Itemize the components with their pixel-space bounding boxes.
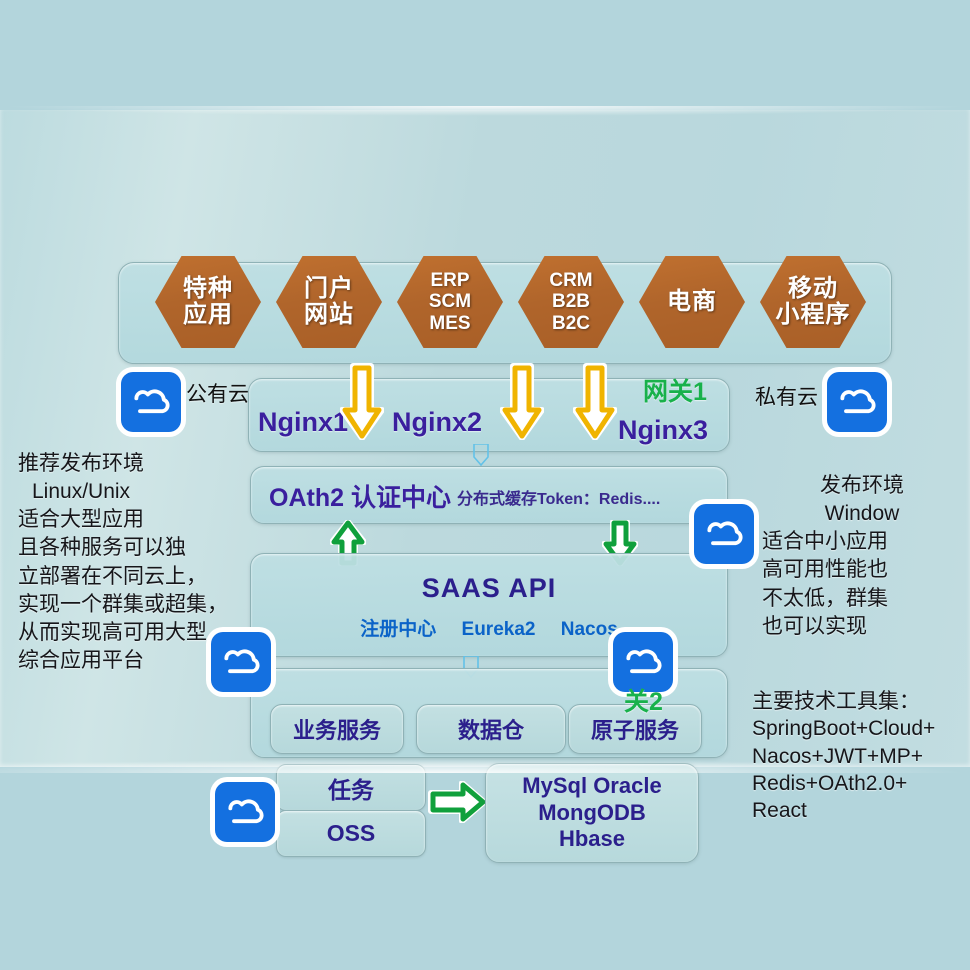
- left-note: 推荐发布环境 Linux/Unix 适合大型应用 且各种服务可以独 立部署在不同…: [18, 450, 233, 675]
- right-note-line-4: 高可用性能也: [762, 556, 962, 584]
- oss-box[interactable]: OSS: [276, 810, 426, 857]
- oauth-subtitle: 分布式缓存Token：Redis....: [457, 485, 660, 509]
- registry-label: 注册中心: [360, 619, 436, 640]
- right-note: 发布环境 Window 适合中小应用 高可用性能也 不太低，群集 也可以实现: [762, 472, 962, 641]
- right-note-line-5: 不太低，群集: [762, 585, 962, 613]
- gateway1-label: 网关1: [643, 372, 707, 408]
- database-box[interactable]: MySql Oracle MongODB Hbase: [485, 763, 699, 863]
- flow-arrow-down-1: [340, 362, 384, 440]
- database-line-3: Hbase: [559, 826, 625, 853]
- saas-title: SAAS API: [251, 573, 727, 604]
- app-hexagon-0[interactable]: 特种应用: [155, 256, 261, 348]
- tech-stack-line-5: React: [752, 797, 970, 824]
- app-hexagon-label-5: 移动小程序: [776, 276, 851, 328]
- task-label: 任务: [328, 771, 374, 805]
- oauth-title: OAth2 认证中心: [269, 478, 451, 514]
- flow-arrow-down-3: [573, 362, 617, 440]
- nginx2-label[interactable]: Nginx2: [392, 407, 482, 438]
- cloud-icon: [129, 380, 173, 424]
- app-hexagon-3[interactable]: CRMB2BB2C: [518, 256, 624, 348]
- cloud-icon: [621, 640, 665, 684]
- tech-stack-note: 主要技术工具集： SpringBoot+Cloud+ Nacos+JWT+MP+…: [752, 688, 970, 824]
- right-note-line-2: Window: [762, 500, 962, 528]
- cloud-icon-public[interactable]: [121, 372, 181, 432]
- oauth-panel: OAth2 认证中心 分布式缓存Token：Redis....: [250, 466, 728, 524]
- private-cloud-label: 私有云: [755, 381, 818, 411]
- app-hexagon-label-2: ERPSCMMES: [429, 270, 471, 334]
- public-cloud-label: 公有云: [186, 378, 249, 408]
- panel-connector-1: [473, 444, 489, 466]
- app-hexagon-1[interactable]: 门户网站: [276, 256, 382, 348]
- tech-stack-line-2: SpringBoot+Cloud+: [752, 715, 970, 742]
- right-note-line-6: 也可以实现: [762, 613, 962, 641]
- app-hexagon-2[interactable]: ERPSCMMES: [397, 256, 503, 348]
- left-note-line-8: 综合应用平台: [18, 647, 233, 675]
- service-box-1[interactable]: 数据仓: [416, 704, 566, 754]
- service-label-1: 数据仓: [458, 713, 524, 745]
- nacos-label: Nacos: [561, 619, 618, 640]
- left-note-line-3: 适合大型应用: [18, 506, 233, 534]
- gateway2-label: 关2: [624, 682, 663, 718]
- app-hexagon-5[interactable]: 移动小程序: [760, 256, 866, 348]
- service-box-0[interactable]: 业务服务: [270, 704, 404, 754]
- architecture-canvas: 特种应用 门户网站 ERPSCMMES CRMB2BB2C 电商 移动小程序 N…: [0, 110, 970, 767]
- right-note-line-1: 发布环境: [762, 472, 962, 500]
- nginx1-label[interactable]: Nginx1: [258, 407, 348, 438]
- app-hexagon-4[interactable]: 电商: [639, 256, 745, 348]
- left-note-line-2: Linux/Unix: [18, 478, 233, 506]
- database-line-2: MongODB: [538, 800, 646, 827]
- left-note-line-4: 且各种服务可以独: [18, 534, 233, 562]
- app-hexagon-label-1: 门户网站: [304, 276, 354, 328]
- app-hexagon-label-3: CRMB2BB2C: [549, 270, 592, 334]
- application-layer-panel: 特种应用 门户网站 ERPSCMMES CRMB2BB2C 电商 移动小程序: [118, 262, 892, 364]
- app-hexagon-label-0: 特种应用: [183, 276, 233, 328]
- left-note-line-7: 从而实现高可用大型: [18, 619, 233, 647]
- left-note-line-6: 实现一个群集或超集，: [18, 591, 233, 619]
- flow-arrow-down-2: [500, 362, 544, 440]
- tech-stack-line-3: Nacos+JWT+MP+: [752, 743, 970, 770]
- right-note-line-3: 适合中小应用: [762, 528, 962, 556]
- left-note-line-5: 立部署在不同云上，: [18, 563, 233, 591]
- tech-stack-line-1: 主要技术工具集：: [752, 688, 970, 715]
- cloud-icon: [835, 380, 879, 424]
- diagram-canvas: 特种应用 门户网站 ERPSCMMES CRMB2BB2C 电商 移动小程序 N…: [0, 0, 970, 970]
- database-line-1: MySql Oracle: [522, 773, 661, 800]
- cloud-icon: [702, 512, 746, 556]
- left-note-line-1: 推荐发布环境: [18, 450, 233, 478]
- flow-arrow-right-green: [428, 781, 486, 823]
- app-hexagon-label-4: 电商: [667, 289, 717, 315]
- task-box[interactable]: 任务: [276, 764, 426, 811]
- nginx3-label[interactable]: Nginx3: [618, 415, 708, 446]
- service-label-0: 业务服务: [293, 713, 381, 745]
- oss-label: OSS: [327, 820, 376, 847]
- eureka-label: Eureka2: [462, 619, 536, 640]
- cloud-icon-private[interactable]: [827, 372, 887, 432]
- cloud-icon-auth[interactable]: [694, 504, 754, 564]
- cloud-icon-storage[interactable]: [215, 782, 275, 842]
- tech-stack-line-4: Redis+OAth2.0+: [752, 770, 970, 797]
- cloud-icon: [223, 790, 267, 834]
